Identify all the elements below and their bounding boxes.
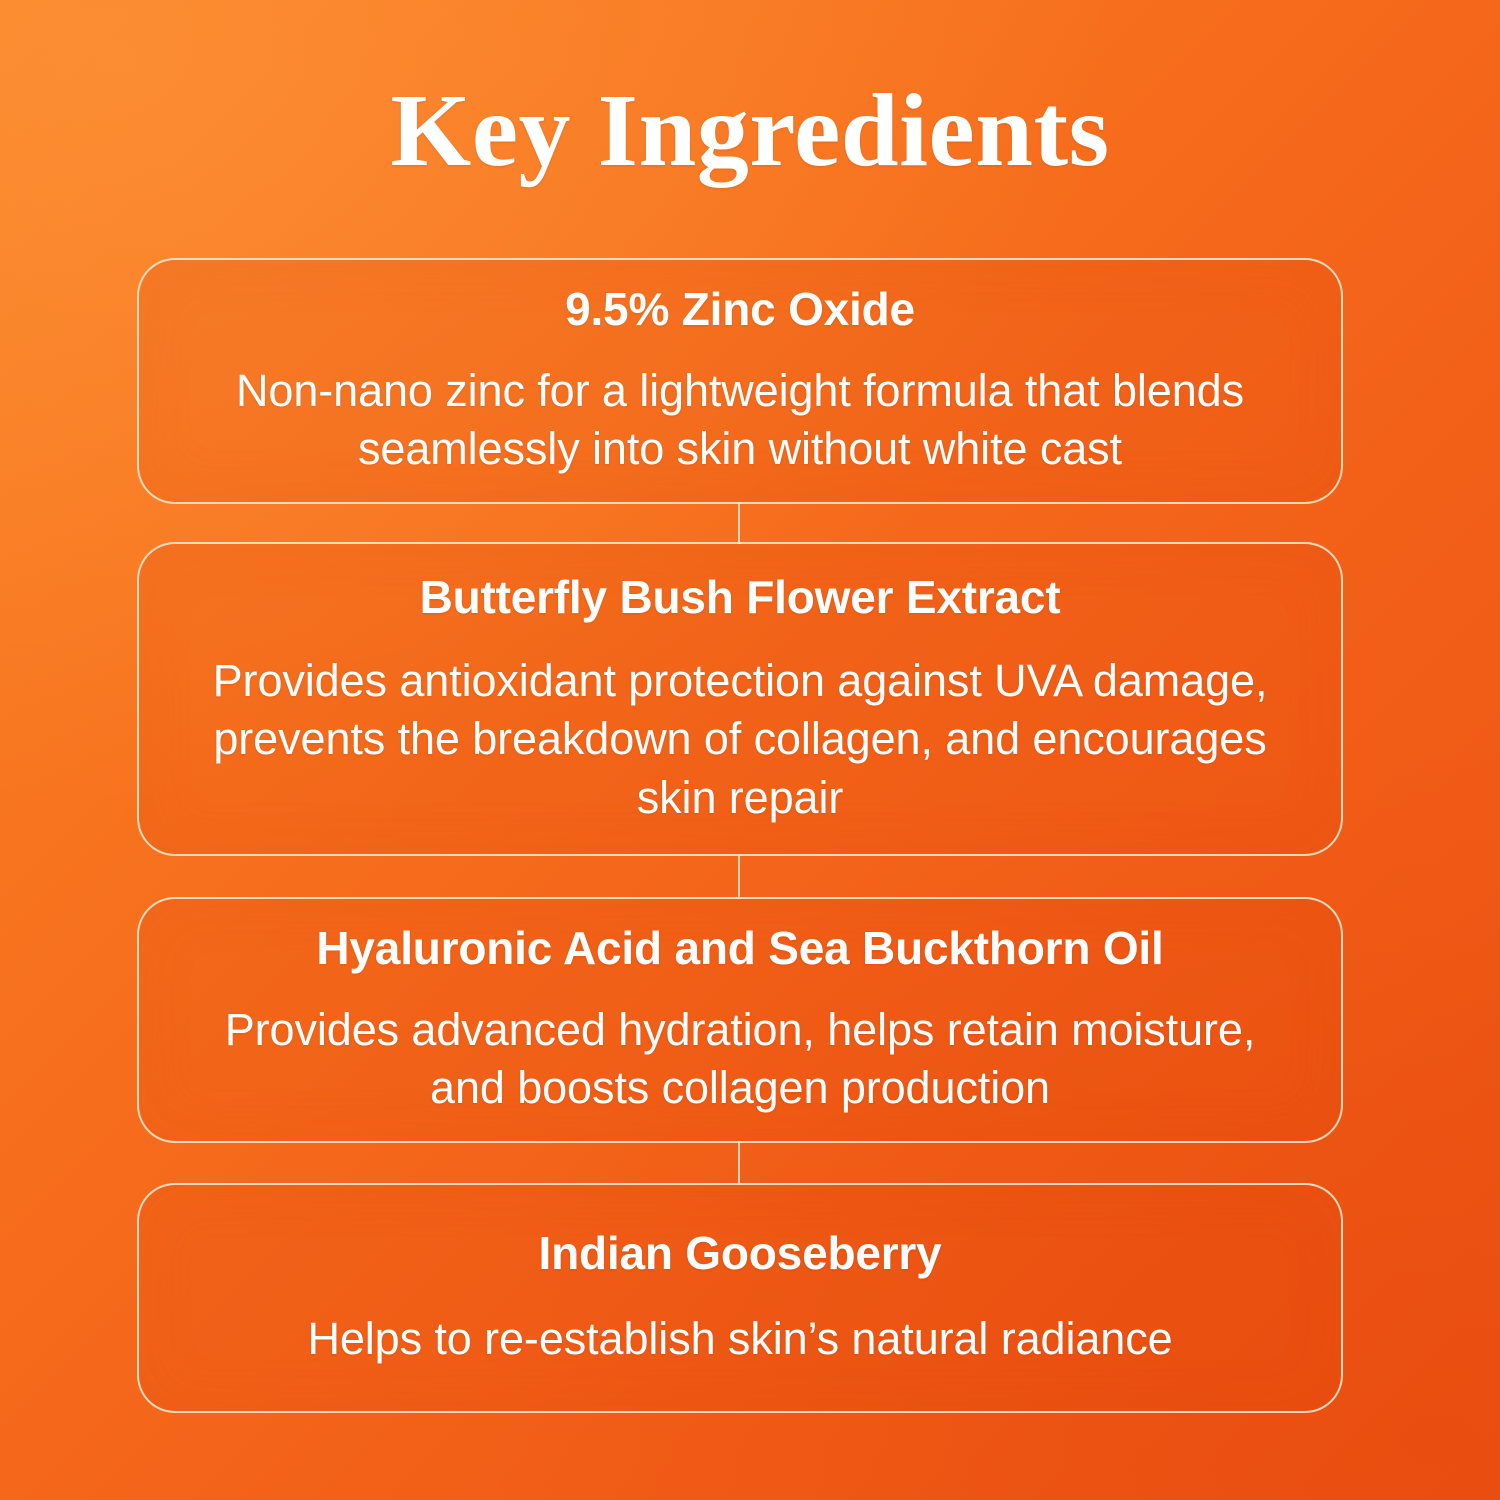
page-title: Key Ingredients — [0, 76, 1500, 185]
card-connector-line — [738, 855, 740, 898]
card-connector-line — [738, 503, 740, 544]
ingredient-title: Indian Gooseberry — [538, 1227, 941, 1280]
ingredient-description: Helps to re-establish skin’s natural rad… — [307, 1310, 1172, 1369]
card-connector-line — [738, 1142, 740, 1184]
ingredient-description: Non-nano zinc for a lightweight formula … — [185, 362, 1295, 479]
ingredient-card: Indian Gooseberry Helps to re-establish … — [137, 1183, 1343, 1413]
ingredient-title: 9.5% Zinc Oxide — [565, 283, 915, 336]
ingredient-description: Provides antioxidant protection against … — [185, 652, 1295, 828]
ingredient-title: Hyaluronic Acid and Sea Buckthorn Oil — [316, 922, 1163, 975]
key-ingredients-panel: Key Ingredients 9.5% Zinc Oxide Non-nano… — [0, 0, 1500, 1500]
ingredient-card: Hyaluronic Acid and Sea Buckthorn Oil Pr… — [137, 897, 1343, 1143]
ingredient-description: Provides advanced hydration, helps retai… — [185, 1001, 1295, 1118]
ingredient-card: Butterfly Bush Flower Extract Provides a… — [137, 542, 1343, 856]
ingredient-title: Butterfly Bush Flower Extract — [420, 571, 1061, 624]
ingredient-card: 9.5% Zinc Oxide Non-nano zinc for a ligh… — [137, 258, 1343, 504]
